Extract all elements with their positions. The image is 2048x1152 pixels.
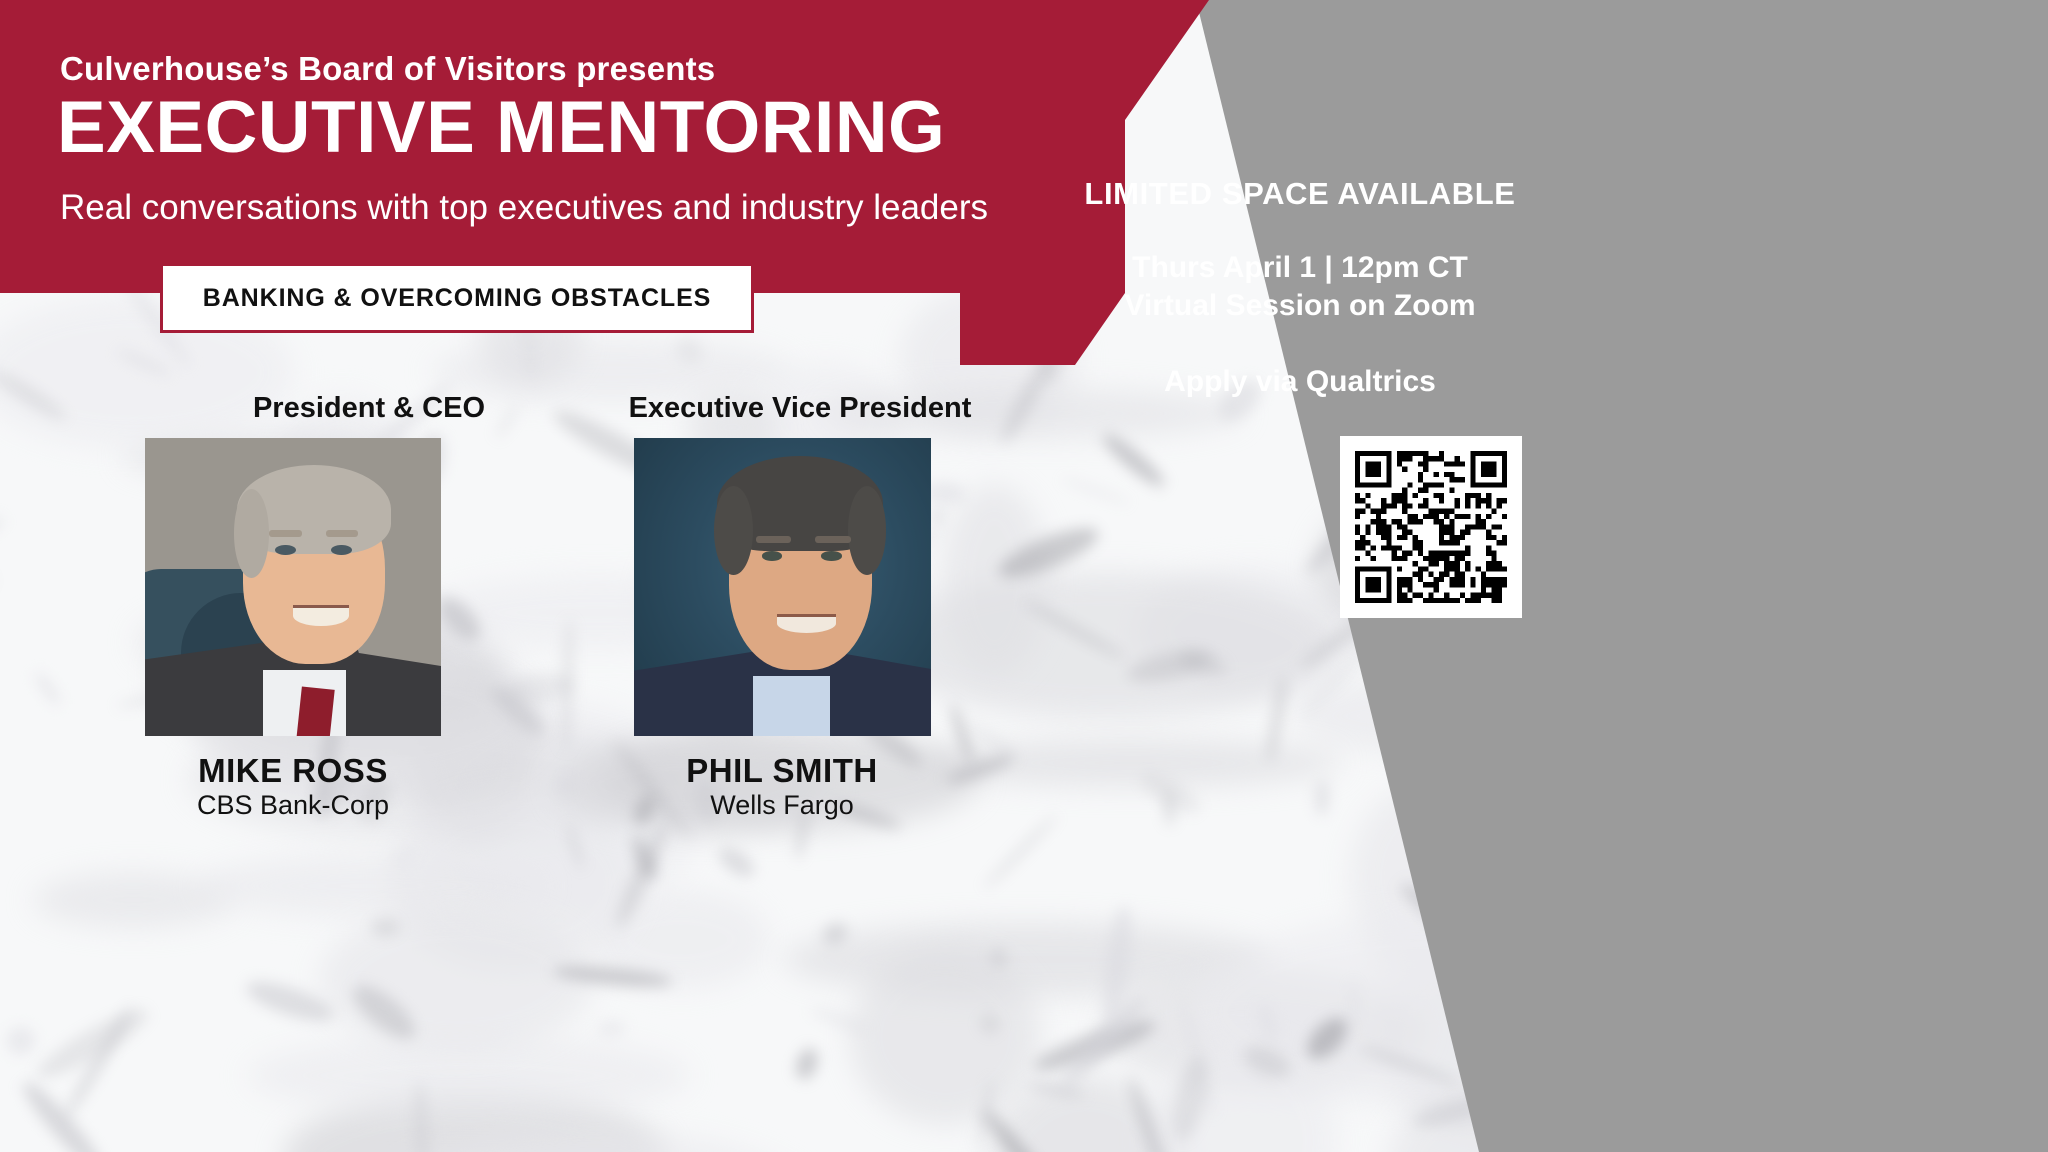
topic-badge-label: BANKING & OVERCOMING OBSTACLES: [203, 284, 712, 313]
banner-subhead: Real conversations with top executives a…: [60, 188, 988, 228]
speaker-1-name: MIKE ROSS: [143, 752, 443, 790]
photo-eye-right: [821, 551, 842, 561]
speaker-2-photo: [634, 438, 931, 736]
qr-code-icon[interactable]: [1355, 451, 1507, 603]
qr-code-frame[interactable]: [1340, 436, 1522, 618]
photo-eyebrow-right: [326, 530, 359, 537]
photo-smile: [777, 614, 836, 633]
speaker-1-title: President & CEO: [144, 392, 594, 425]
speaker-2-name: PHIL SMITH: [632, 752, 932, 790]
event-platform-line: Virtual Session on Zoom: [1070, 287, 1530, 325]
photo-eyebrow-left: [756, 536, 792, 543]
photo-eyebrow-left: [269, 530, 302, 537]
photo-eye-left: [762, 551, 783, 561]
page-title: EXECUTIVE MENTORING: [57, 91, 945, 165]
photo-hair-side: [234, 489, 270, 578]
flyer-canvas: Culverhouse’s Board of Visitors presents…: [0, 0, 2048, 1152]
topic-badge: BANKING & OVERCOMING OBSTACLES: [160, 263, 754, 333]
photo-smile: [293, 605, 349, 626]
speaker-1-org: CBS Bank-Corp: [143, 790, 443, 821]
event-datetime: Thurs April 1 | 12pm CT Virtual Session …: [1070, 249, 1530, 326]
apply-instruction: Apply via Qualtrics: [1070, 365, 1530, 399]
speaker-2-title: Executive Vice President: [557, 392, 1043, 425]
photo-shirt: [753, 676, 830, 736]
event-date-line: Thurs April 1 | 12pm CT: [1070, 249, 1530, 287]
photo-eyebrow-right: [815, 536, 851, 543]
photo-hair-left: [714, 486, 753, 575]
banner-kicker: Culverhouse’s Board of Visitors presents: [60, 50, 715, 88]
photo-tie: [296, 687, 334, 736]
speaker-2-org: Wells Fargo: [632, 790, 932, 821]
limited-space-notice: LIMITED SPACE AVAILABLE: [1070, 176, 1530, 212]
speaker-1-photo: [145, 438, 441, 736]
